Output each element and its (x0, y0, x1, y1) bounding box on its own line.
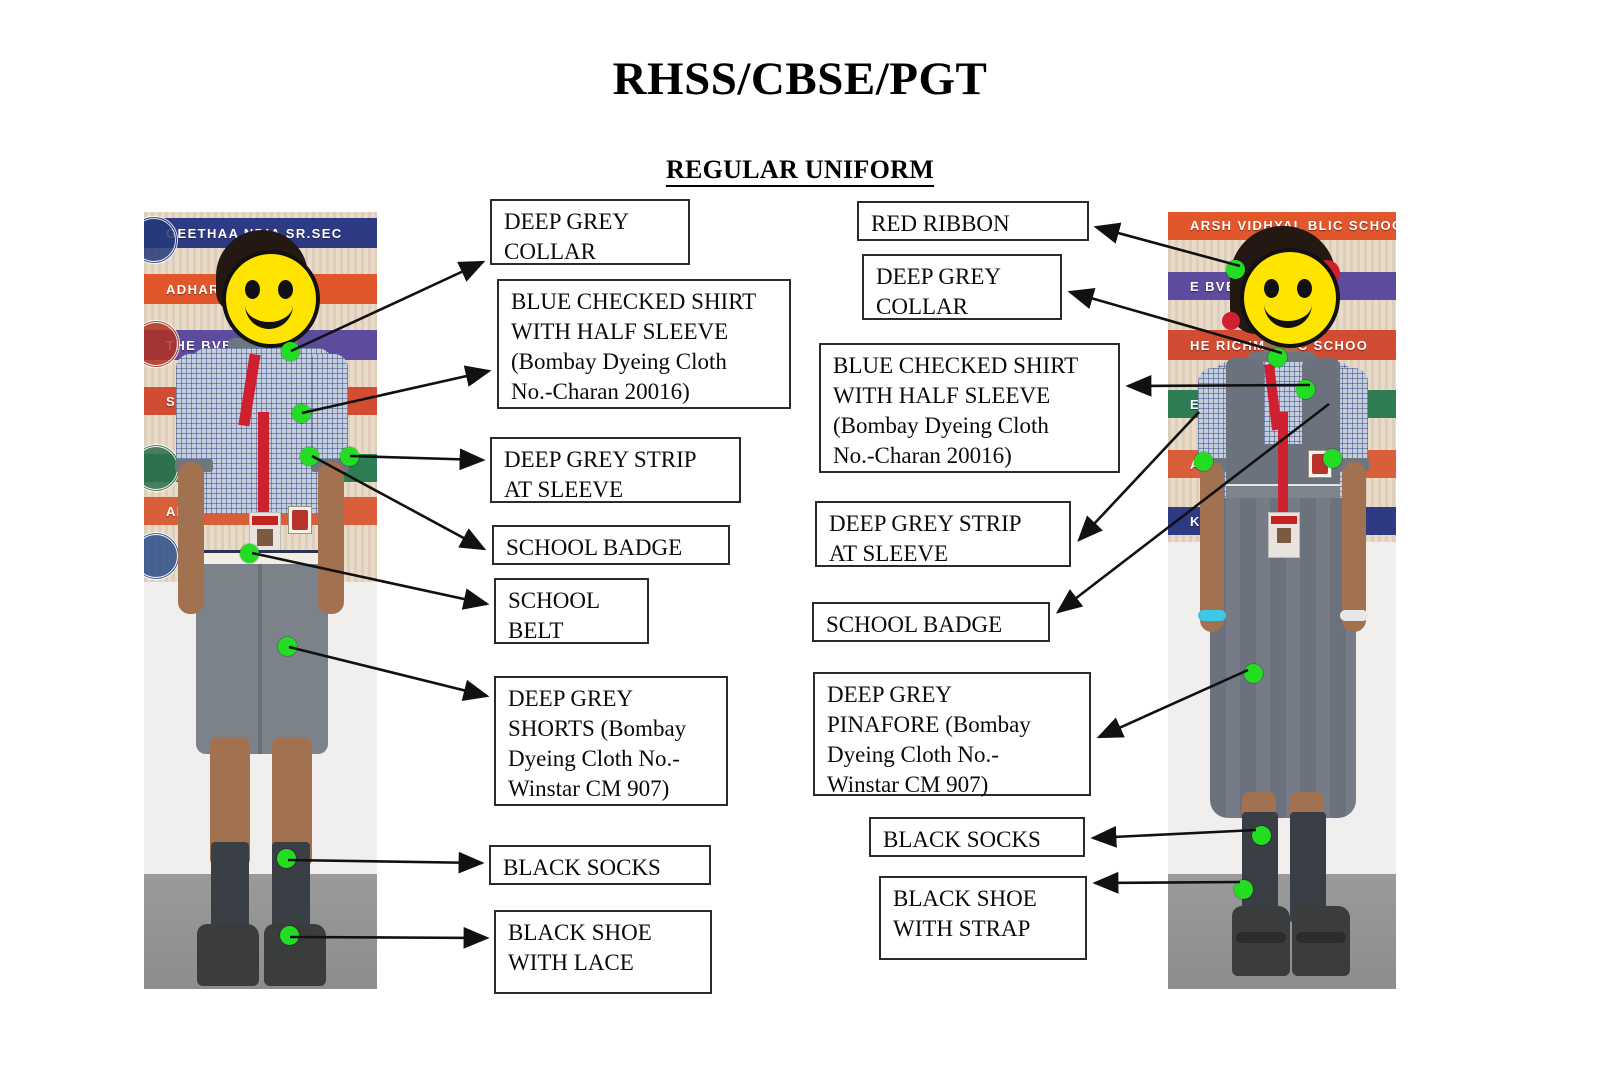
callout-line: DEEP GREY STRIP (829, 509, 1059, 539)
callout-line: COLLAR (876, 292, 1050, 322)
callout-line: RED RIBBON (871, 209, 1077, 239)
callout-box-blue-checked-shirt-right[interactable]: BLUE CHECKED SHIRT WITH HALF SLEEVE (Bom… (819, 343, 1120, 473)
callout-line: BLUE CHECKED SHIRT (511, 287, 779, 317)
callout-box-deep-grey-strip-right[interactable]: DEEP GREY STRIP AT SLEEVE (815, 501, 1071, 567)
callout-line: BLACK SHOE (508, 918, 700, 948)
callout-line: No.-Charan 20016) (511, 377, 779, 407)
callout-line: DEEP GREY STRIP (504, 445, 729, 475)
callout-box-black-socks-right[interactable]: BLACK SOCKS (869, 817, 1085, 857)
marker-dot-ribbon (1226, 260, 1245, 279)
callout-line: BELT (508, 616, 637, 646)
smiley-face-mask-icon (222, 250, 320, 348)
callout-line: WITH HALF SLEEVE (511, 317, 779, 347)
callout-line: Winstar CM 907) (827, 770, 1079, 800)
girl-uniform-photo: ARSH VIDHYAL BLIC SCHOO E BVB SC HE RICH… (1168, 212, 1396, 989)
marker-dot-shoe (280, 926, 299, 945)
callout-line: SHORTS (Bombay (508, 714, 716, 744)
smiley-face-mask-icon (1240, 248, 1340, 348)
marker-dot-shoe (1234, 880, 1253, 899)
callout-line: SCHOOL BADGE (826, 610, 1038, 640)
callout-line: WITH STRAP (893, 914, 1075, 944)
callout-box-school-badge-right[interactable]: SCHOOL BADGE (812, 602, 1050, 642)
marker-dot-sleeve-strip (340, 447, 359, 466)
callout-line: BLACK SHOE (893, 884, 1075, 914)
callout-line: Dyeing Cloth No.- (508, 744, 716, 774)
callout-line: No.-Charan 20016) (833, 441, 1108, 471)
callout-line: DEEP GREY (827, 680, 1079, 710)
callout-box-deep-grey-collar-left[interactable]: DEEP GREY COLLAR (490, 199, 690, 265)
callout-line: PINAFORE (Bombay (827, 710, 1079, 740)
shirt-left-sleeve (176, 354, 212, 464)
callout-line: WITH LACE (508, 948, 700, 978)
left-arm (178, 462, 204, 614)
callout-line: DEEP GREY (504, 207, 678, 237)
callout-box-red-ribbon-right[interactable]: RED RIBBON (857, 201, 1089, 241)
marker-dot-shorts (278, 637, 297, 656)
marker-dot-collar (1268, 348, 1287, 367)
callout-box-school-belt-left[interactable]: SCHOOL BELT (494, 578, 649, 644)
callout-line: AT SLEEVE (504, 475, 729, 505)
uniform-spec-page: RHSS/CBSE/PGT REGULAR UNIFORM GEETHAA ND… (0, 0, 1600, 1082)
callout-line: BLACK SOCKS (503, 853, 699, 883)
callout-line: Dyeing Cloth No.- (827, 740, 1079, 770)
black-shoe-with-strap (1232, 906, 1290, 976)
marker-dot-socks (277, 849, 296, 868)
callout-box-black-shoe-strap-right[interactable]: BLACK SHOE WITH STRAP (879, 876, 1087, 960)
marker-dot-belt (240, 544, 259, 563)
section-subtitle-text: REGULAR UNIFORM (666, 155, 934, 187)
callout-line: BLACK SOCKS (883, 825, 1073, 855)
bracelet (1198, 610, 1226, 621)
section-subtitle: REGULAR UNIFORM (0, 155, 1600, 185)
callout-line: Winstar CM 907) (508, 774, 716, 804)
callout-line: BLUE CHECKED SHIRT (833, 351, 1108, 381)
shirt-right-sleeve (312, 354, 348, 464)
callout-line: AT SLEEVE (829, 539, 1059, 569)
black-socks (211, 842, 249, 937)
smiley-mouth-icon (245, 298, 293, 329)
lanyard-strap (1278, 412, 1288, 520)
black-shoe-with-strap (1292, 906, 1350, 976)
marker-dot-pinafore (1244, 664, 1263, 683)
page-title: RHSS/CBSE/PGT (0, 52, 1600, 106)
callout-line: (Bombay Dyeing Cloth (511, 347, 779, 377)
studio-floor (144, 874, 377, 989)
callout-line: SCHOOL BADGE (506, 533, 718, 563)
callout-box-black-shoe-lace-left[interactable]: BLACK SHOE WITH LACE (494, 910, 712, 994)
smiley-eye-icon (1297, 279, 1312, 298)
shorts-center-seam (258, 564, 262, 754)
callout-line: (Bombay Dyeing Cloth (833, 411, 1108, 441)
marker-dot-shirt (292, 404, 311, 423)
marker-dot-shirt (1296, 380, 1315, 399)
boy-uniform-photo: GEETHAA NDIA SR.SEC ADHARS PUBLIC S THE … (144, 212, 377, 989)
smiley-eye-icon (1264, 279, 1279, 298)
right-arm (318, 462, 344, 614)
callout-box-blue-checked-shirt-left[interactable]: BLUE CHECKED SHIRT WITH HALF SLEEVE (Bom… (497, 279, 791, 409)
callout-line: DEEP GREY (508, 684, 716, 714)
left-arm (1200, 462, 1224, 632)
callout-box-deep-grey-shorts-left[interactable]: DEEP GREY SHORTS (Bombay Dyeing Cloth No… (494, 676, 728, 806)
marker-dot-collar (281, 342, 300, 361)
callout-line: SCHOOL (508, 586, 637, 616)
right-arm (1342, 462, 1366, 632)
marker-dot-socks (1252, 826, 1271, 845)
school-badge (288, 506, 312, 534)
red-ribbon (1222, 312, 1240, 330)
marker-dot-badge (1323, 449, 1342, 468)
smiley-eye-icon (278, 280, 293, 299)
callout-box-deep-grey-collar-right[interactable]: DEEP GREY COLLAR (862, 254, 1062, 320)
callout-line: WITH HALF SLEEVE (833, 381, 1108, 411)
deep-grey-shorts (196, 564, 328, 754)
callout-box-black-socks-left[interactable]: BLACK SOCKS (489, 845, 711, 885)
marker-dot-badge (300, 447, 319, 466)
black-shoe-with-lace (197, 924, 259, 986)
smiley-mouth-icon (1264, 297, 1312, 328)
marker-dot-sleeve-strip (1194, 452, 1213, 471)
callout-box-deep-grey-pinafore-right[interactable]: DEEP GREY PINAFORE (Bombay Dyeing Cloth … (813, 672, 1091, 796)
bracelet (1340, 610, 1368, 621)
callout-box-deep-grey-strip-left[interactable]: DEEP GREY STRIP AT SLEEVE (490, 437, 741, 503)
smiley-eye-icon (245, 280, 260, 299)
callout-box-school-badge-left[interactable]: SCHOOL BADGE (492, 525, 730, 565)
id-card (1268, 512, 1300, 558)
callout-line: DEEP GREY (876, 262, 1050, 292)
callout-line: COLLAR (504, 237, 678, 267)
